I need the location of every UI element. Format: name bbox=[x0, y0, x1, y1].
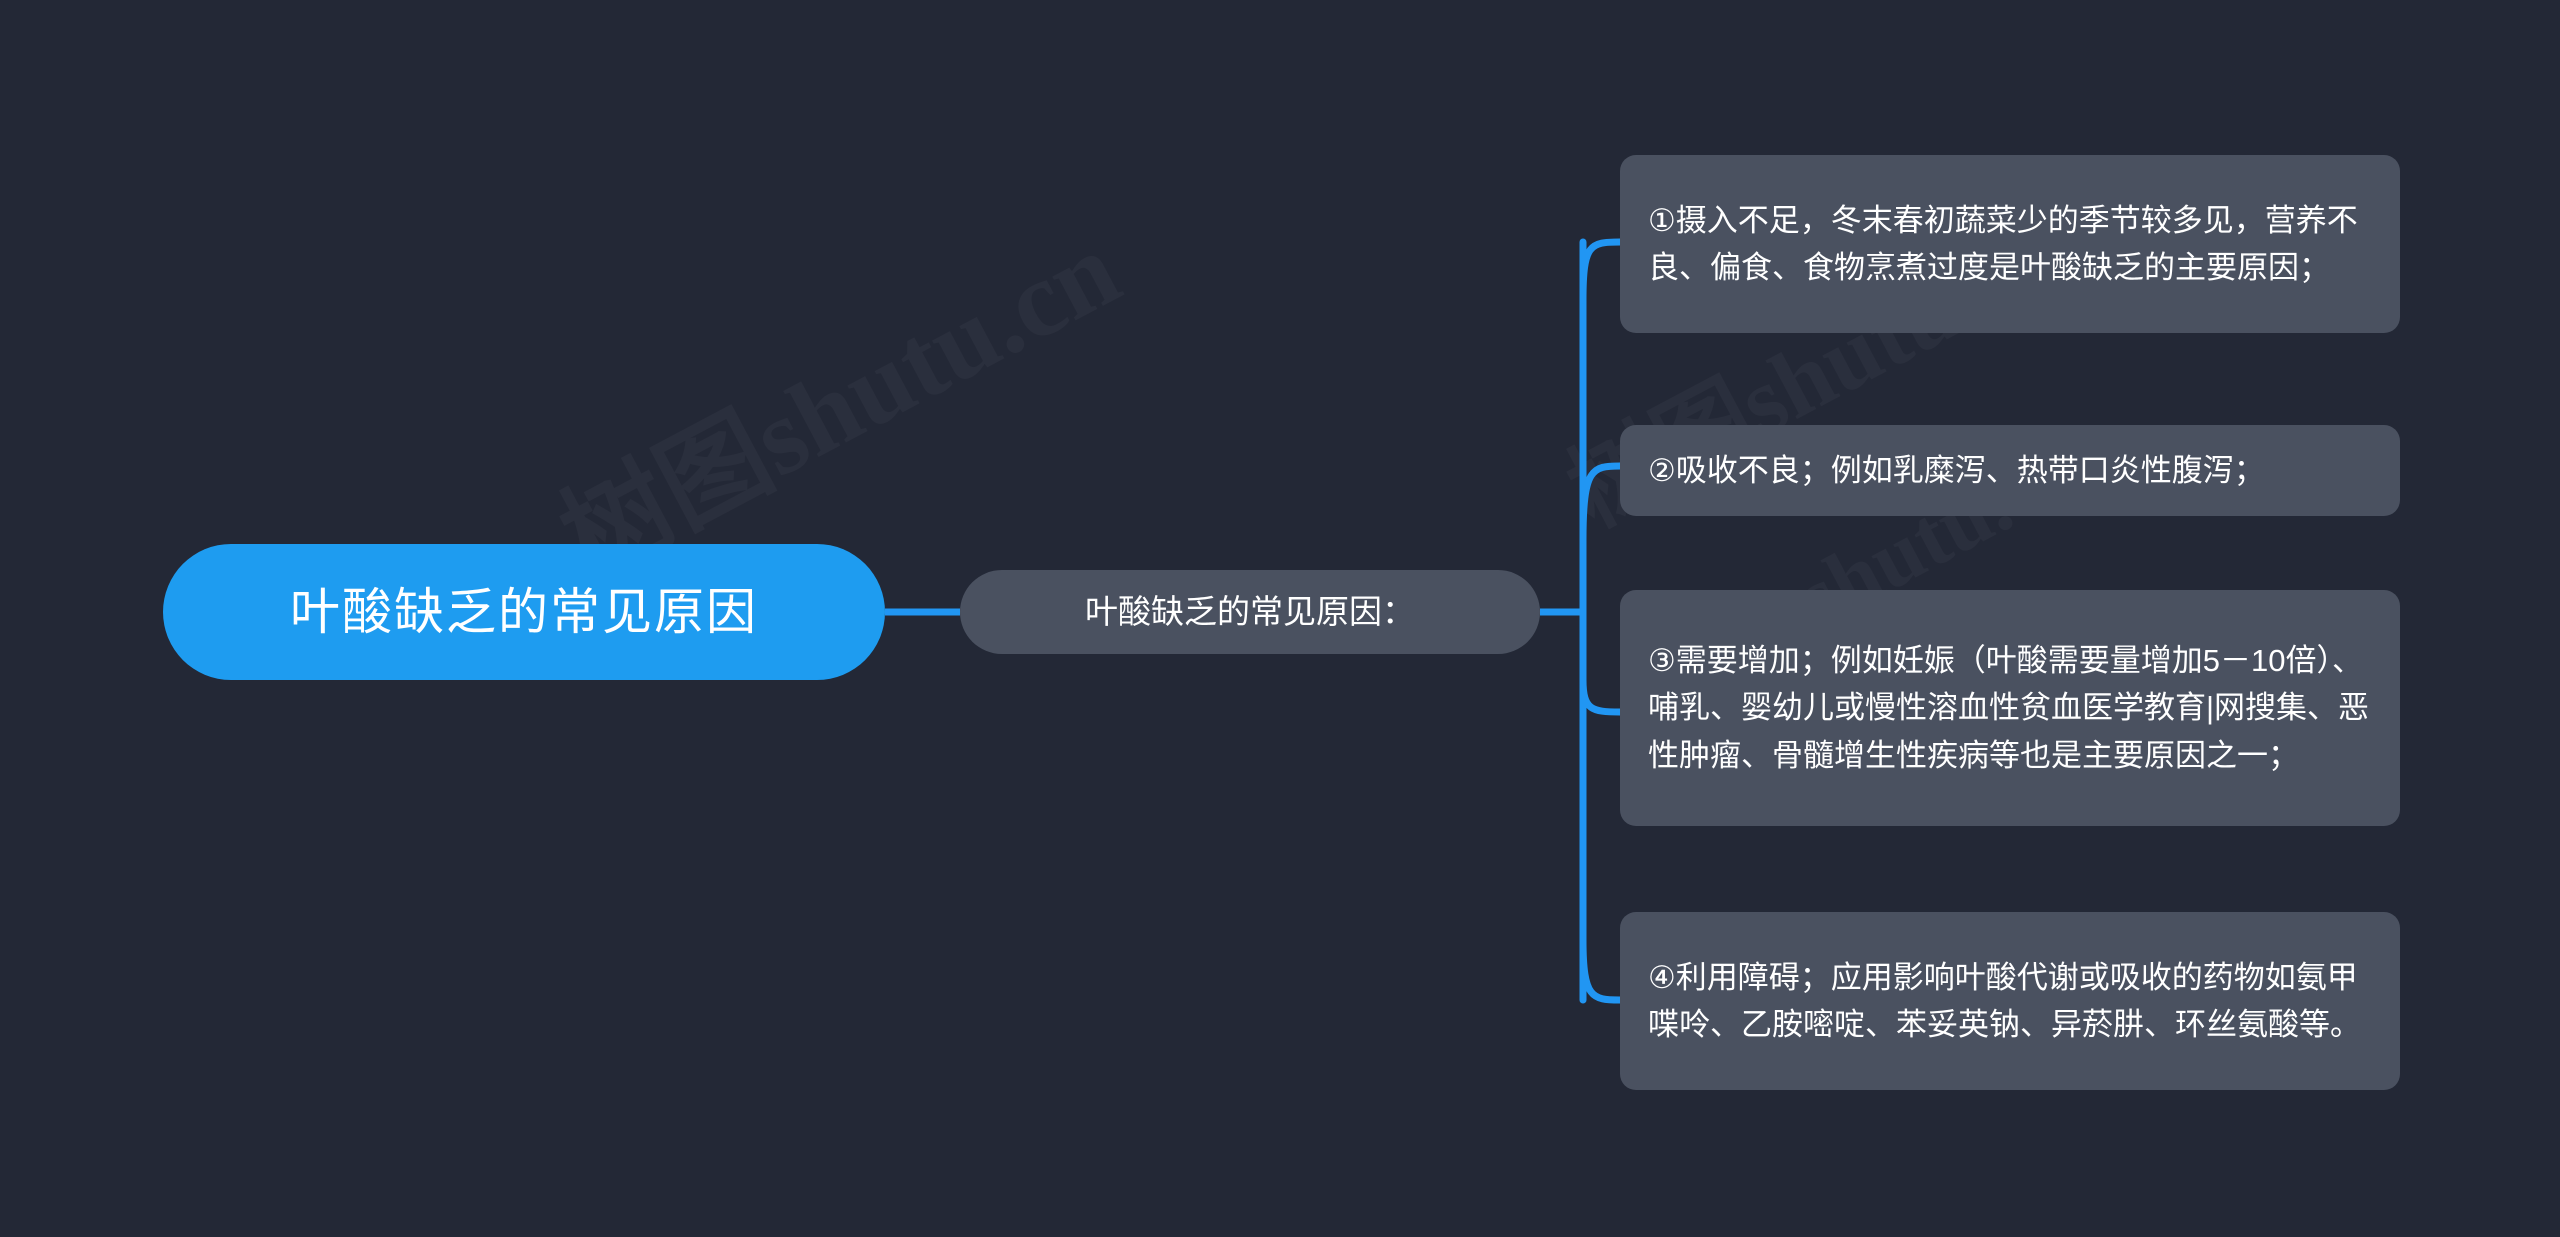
leaf-node-3[interactable]: ③需要增加；例如妊娠（叶酸需要量增加5－10倍）、哺乳、婴幼儿或慢性溶血性贫血医… bbox=[1620, 590, 2400, 826]
connector-trunk-to-leaf-4 bbox=[1583, 940, 1620, 1000]
root-node[interactable]: 叶酸缺乏的常见原因 bbox=[163, 544, 885, 680]
connector-trunk-to-leaf-1 bbox=[1583, 242, 1620, 300]
connector-trunk-to-leaf-3 bbox=[1583, 680, 1620, 712]
leaf-node-4[interactable]: ④利用障碍；应用影响叶酸代谢或吸收的药物如氨甲喋呤、乙胺嘧啶、苯妥英钠、异菸肼、… bbox=[1620, 912, 2400, 1090]
branch-node-label: 叶酸缺乏的常见原因： bbox=[1085, 591, 1415, 634]
branch-node[interactable]: 叶酸缺乏的常见原因： bbox=[960, 570, 1540, 654]
connector-trunk-to-leaf-2 bbox=[1583, 466, 1620, 540]
mindmap-canvas: 树图shutu.cn 树图shutu.cn shutu.cn 叶酸缺乏的常见原因… bbox=[0, 0, 2560, 1237]
leaf-node-3-label: ③需要增加；例如妊娠（叶酸需要量增加5－10倍）、哺乳、婴幼儿或慢性溶血性贫血医… bbox=[1648, 637, 2372, 778]
leaf-node-1[interactable]: ①摄入不足，冬末春初蔬菜少的季节较多见，营养不良、偏食、食物烹煮过度是叶酸缺乏的… bbox=[1620, 155, 2400, 333]
leaf-node-1-label: ①摄入不足，冬末春初蔬菜少的季节较多见，营养不良、偏食、食物烹煮过度是叶酸缺乏的… bbox=[1648, 197, 2372, 291]
leaf-node-2-label: ②吸收不良；例如乳糜泻、热带口炎性腹泻； bbox=[1648, 447, 2372, 494]
leaf-node-2[interactable]: ②吸收不良；例如乳糜泻、热带口炎性腹泻； bbox=[1620, 425, 2400, 516]
leaf-node-4-label: ④利用障碍；应用影响叶酸代谢或吸收的药物如氨甲喋呤、乙胺嘧啶、苯妥英钠、异菸肼、… bbox=[1648, 954, 2372, 1048]
root-node-label: 叶酸缺乏的常见原因 bbox=[290, 582, 758, 642]
